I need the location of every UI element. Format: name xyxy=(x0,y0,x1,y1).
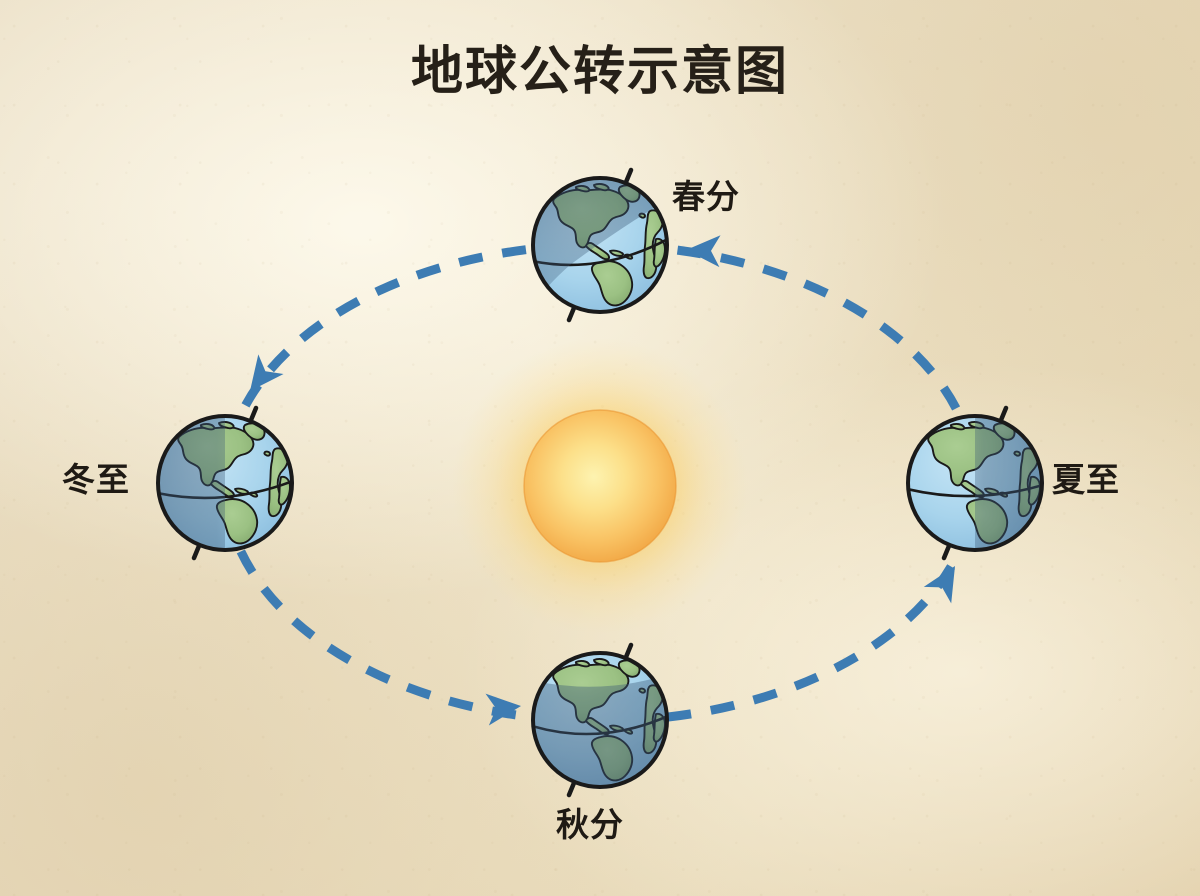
label-autumn-equinox: 秋分 xyxy=(556,798,624,846)
earth-night-shading xyxy=(530,674,670,790)
earth-spring xyxy=(532,170,668,320)
arrow-to-spring-icon xyxy=(685,234,720,267)
sun xyxy=(452,338,748,634)
sun-disc xyxy=(524,410,676,562)
label-spring-equinox: 春分 xyxy=(672,170,740,218)
earth-night-shading xyxy=(975,413,1045,553)
label-winter-solstice: 冬至 xyxy=(62,453,130,501)
diagram-canvas: 地球公转示意图 春分 冬至 夏至 秋分 xyxy=(0,0,1200,896)
earth-summer xyxy=(907,408,1045,558)
earth-winter xyxy=(155,408,293,558)
arrow-to-summer-icon xyxy=(924,558,969,604)
arrow-to-autumn-icon xyxy=(486,690,523,725)
orbit-scene xyxy=(0,0,1200,896)
earth-night-shading xyxy=(155,413,225,553)
earth-autumn xyxy=(530,645,670,795)
page-title: 地球公转示意图 xyxy=(0,44,1200,101)
label-summer-solstice: 夏至 xyxy=(1052,453,1120,501)
